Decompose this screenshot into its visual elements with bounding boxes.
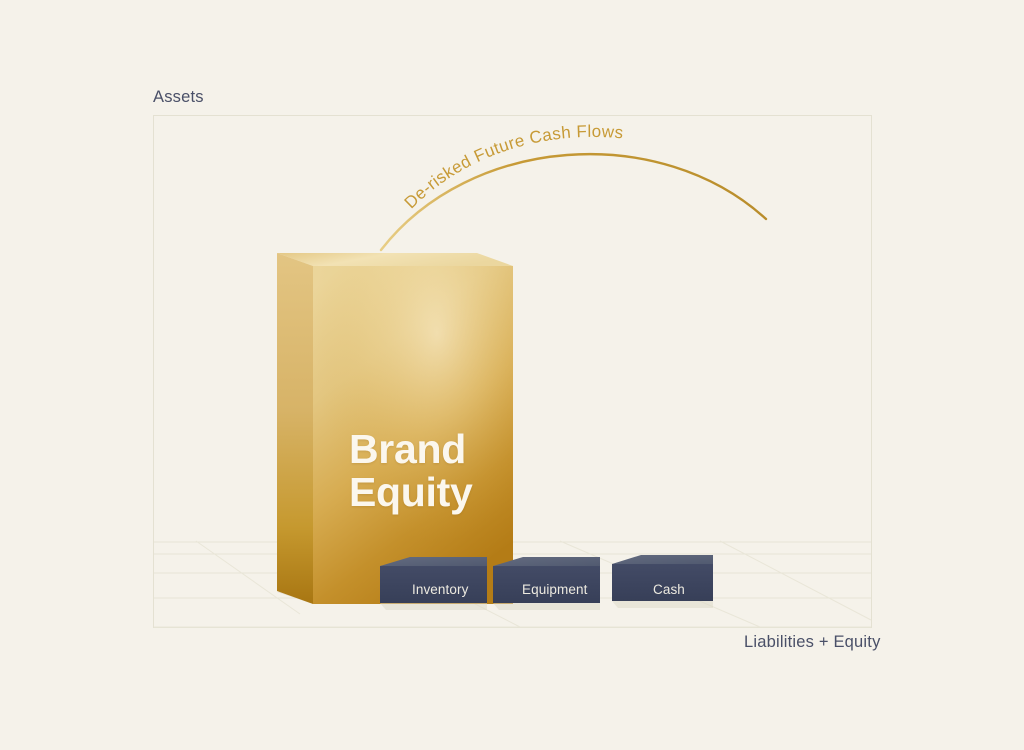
cash-shadow xyxy=(612,601,713,608)
cash-label: Cash xyxy=(653,582,685,597)
equipment-shadow xyxy=(493,603,600,610)
inventory-label: Inventory xyxy=(412,582,468,597)
inventory-shadow xyxy=(380,603,487,610)
x-axis-label: Liabilities + Equity xyxy=(744,633,881,652)
chart-canvas: Assets xyxy=(0,0,1024,750)
prism-top-face xyxy=(277,253,513,266)
prism-left-face xyxy=(277,253,313,604)
cash-top-face xyxy=(612,555,713,564)
equipment-label: Equipment xyxy=(522,582,587,597)
brand-equity-label: Brand Equity xyxy=(349,428,509,515)
